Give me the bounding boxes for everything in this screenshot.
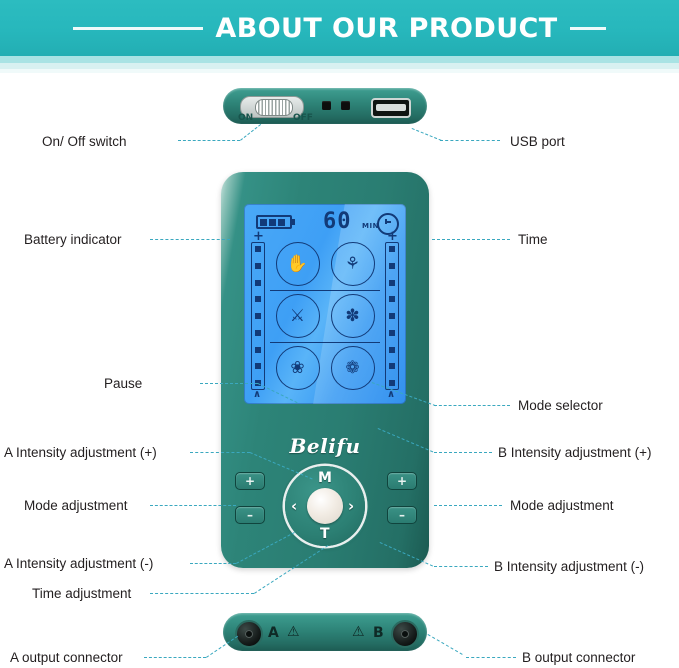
mode-selector-dpad[interactable]: M T ‹ › — [285, 466, 365, 546]
mode-icon-5: ❀ — [276, 346, 320, 390]
dpad-center-button[interactable] — [307, 488, 343, 524]
battery-cell — [269, 219, 276, 226]
intensity-seg — [389, 246, 395, 252]
leader-mode-adjustment-left — [150, 505, 236, 506]
leader-mode-selector — [434, 405, 510, 406]
intensity-bar-b — [385, 242, 399, 390]
intensity-seg — [389, 313, 395, 319]
intensity-seg — [389, 363, 395, 369]
dpad-left-arrow[interactable]: ‹ — [291, 499, 297, 514]
switch-on-label: ON — [238, 113, 253, 123]
intensity-seg — [389, 263, 395, 269]
intensity-seg — [389, 330, 395, 336]
callout-a-output-connector: A output connector — [10, 651, 123, 665]
b-intensity-minus-button[interactable]: – — [387, 506, 417, 524]
leader-usb-port — [440, 140, 500, 141]
header-strip-light — [0, 56, 679, 63]
mode-cell[interactable]: ⚔ — [270, 290, 325, 342]
battery-cell — [260, 219, 267, 226]
callout-mode-adjustment-right: Mode adjustment — [510, 499, 614, 513]
time-value: 60 — [323, 210, 352, 234]
warning-icon-a: ⚠ — [287, 625, 300, 639]
lcd-status-bar: 60 MIN — [244, 210, 406, 236]
lcd-screen: 60 MIN + + ∧ ∧ — [244, 204, 406, 404]
intensity-seg — [389, 280, 395, 286]
callout-mode-selector: Mode selector — [518, 399, 603, 413]
dpad-time-label[interactable]: T — [320, 527, 330, 541]
header-rule-right — [570, 27, 606, 30]
intensity-seg — [255, 296, 261, 302]
intensity-seg — [255, 280, 261, 286]
header-strip-palest — [0, 69, 679, 73]
indicator-port-1 — [322, 101, 331, 110]
usb-port[interactable] — [371, 98, 411, 118]
b-output-connector[interactable] — [391, 620, 419, 648]
power-switch-knob[interactable] — [255, 99, 293, 116]
mode-icon-2: ⚘ — [331, 242, 375, 286]
b-intensity-plus-button[interactable]: + — [387, 472, 417, 490]
usb-port-inner — [376, 104, 406, 111]
leader-b-intensity-minus — [434, 566, 488, 567]
intensity-seg — [255, 313, 261, 319]
dpad-mode-label[interactable]: M — [318, 471, 332, 485]
intensity-b-min-marker: ∧ — [387, 390, 395, 400]
switch-off-label: OFF — [293, 113, 313, 123]
mode-cell[interactable]: ✽ — [325, 290, 380, 342]
callout-battery-indicator: Battery indicator — [24, 233, 122, 247]
mode-cell[interactable]: ✋ — [270, 238, 325, 290]
mode-cell[interactable]: ❁ — [325, 342, 380, 394]
intensity-bar-a — [251, 242, 265, 390]
intensity-seg — [255, 363, 261, 369]
leader-a-output-connector — [144, 657, 206, 658]
mode-row-divider — [270, 342, 380, 343]
leader-time-adjustment — [150, 593, 254, 594]
mode-icon-1: ✋ — [276, 242, 320, 286]
a-output-connector[interactable] — [235, 620, 263, 648]
leader-on-off-switch-angled — [240, 124, 261, 141]
device-bottom-edge: A ⚠ ⚠ B — [223, 613, 427, 651]
intensity-seg — [389, 296, 395, 302]
callout-a-intensity-plus: A Intensity adjustment (+) — [4, 446, 157, 460]
callout-b-intensity-plus: B Intensity adjustment (+) — [498, 446, 651, 460]
intensity-a-min-marker: ∧ — [253, 390, 261, 400]
mode-cell[interactable]: ⚘ — [325, 238, 380, 290]
battery-indicator-icon — [256, 215, 292, 229]
callout-b-intensity-minus: B Intensity adjustment (-) — [494, 560, 644, 574]
intensity-seg — [389, 380, 395, 386]
indicator-port-2 — [341, 101, 350, 110]
leader-b-output-connector — [466, 657, 516, 658]
callout-time-adjustment: Time adjustment — [32, 587, 131, 601]
a-intensity-plus-button[interactable]: + — [235, 472, 265, 490]
page-title: ABOUT OUR PRODUCT — [215, 13, 557, 44]
mode-icon-4: ✽ — [331, 294, 375, 338]
mode-icon-grid: ✋ ⚘ ⚔ ✽ ❀ ❁ — [270, 238, 380, 394]
intensity-seg — [389, 347, 395, 353]
leader-on-off-switch — [178, 140, 240, 141]
warning-icon-b: ⚠ — [352, 625, 365, 639]
callout-usb-port: USB port — [510, 135, 565, 149]
leader-usb-port-angled — [412, 128, 442, 141]
callout-a-intensity-minus: A Intensity adjustment (-) — [4, 557, 153, 571]
leader-time — [432, 239, 510, 240]
leader-b-output-connector-angled — [428, 634, 463, 655]
mode-row-divider — [270, 290, 380, 291]
device-body: 60 MIN + + ∧ ∧ — [221, 172, 429, 568]
connector-b-letter: B — [373, 626, 384, 640]
connector-pin — [245, 630, 253, 638]
mode-icon-3: ⚔ — [276, 294, 320, 338]
dpad-right-arrow[interactable]: › — [348, 499, 354, 514]
callout-time: Time — [518, 233, 548, 247]
header-rule-left — [73, 27, 203, 30]
mode-cell[interactable]: ❀ — [270, 342, 325, 394]
intensity-seg — [255, 347, 261, 353]
mode-icon-6: ❁ — [331, 346, 375, 390]
intensity-seg — [255, 246, 261, 252]
intensity-seg — [255, 330, 261, 336]
header: ABOUT OUR PRODUCT — [0, 0, 679, 56]
battery-cap — [292, 219, 295, 225]
leader-pause — [200, 383, 258, 384]
clock-minute-hand — [386, 221, 391, 223]
intensity-seg — [255, 263, 261, 269]
callout-pause: Pause — [104, 377, 142, 391]
connector-a-letter: A — [268, 626, 279, 640]
leader-a-intensity-plus — [190, 452, 250, 453]
leader-b-intensity-plus — [434, 452, 492, 453]
device-top-edge: ON OFF — [223, 88, 427, 124]
callout-b-output-connector: B output connector — [522, 651, 635, 665]
connector-pin — [401, 630, 409, 638]
leader-a-intensity-minus — [190, 563, 236, 564]
callout-on-off-switch: On/ Off switch — [42, 135, 127, 149]
leader-mode-adjustment-right — [434, 505, 502, 506]
a-intensity-minus-button[interactable]: – — [235, 506, 265, 524]
battery-cell — [278, 219, 285, 226]
leader-battery-indicator — [150, 239, 230, 240]
callout-mode-adjustment-left: Mode adjustment — [24, 499, 128, 513]
